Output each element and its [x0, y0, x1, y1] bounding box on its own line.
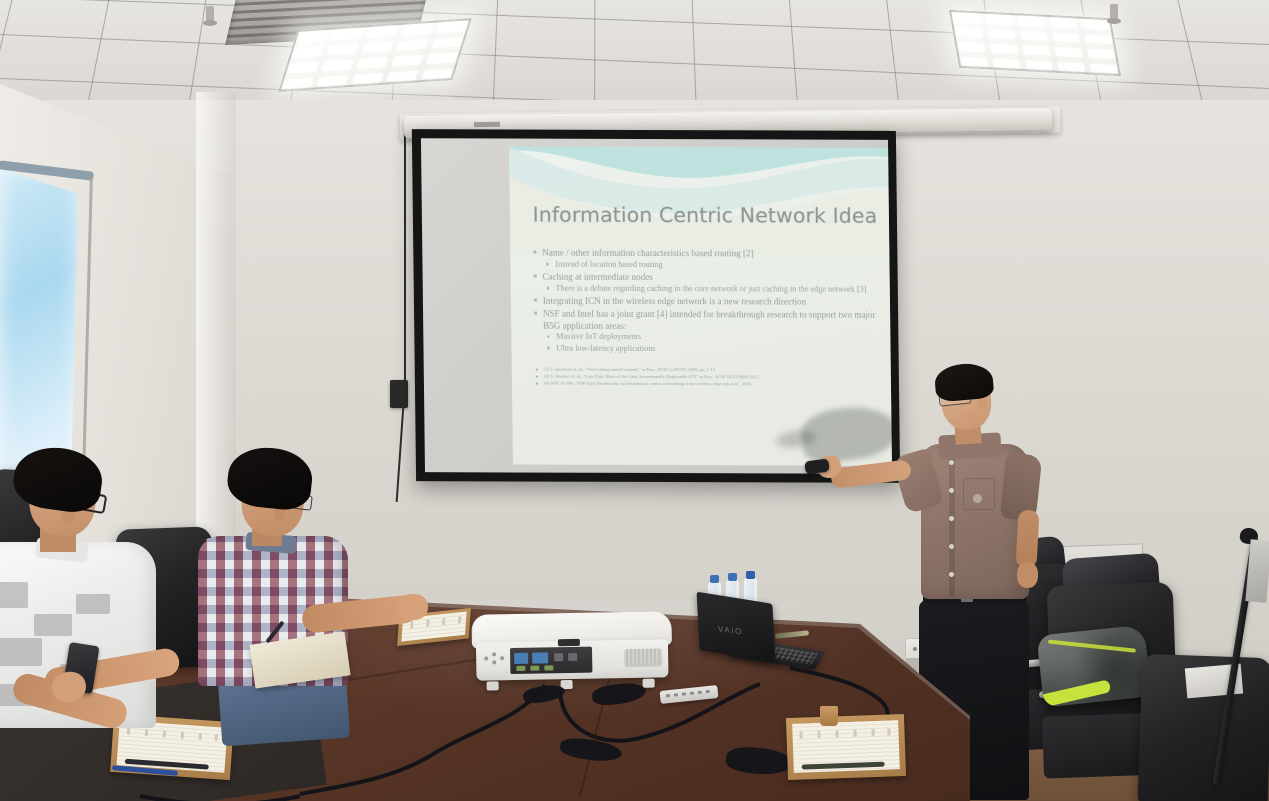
light-louver-cell	[422, 68, 454, 79]
light-louver-cell	[1082, 20, 1110, 30]
light-louver-cell	[282, 77, 314, 88]
meeting-room-photo: Information Centric Network Idea Name / …	[0, 0, 1269, 801]
light-louver-cell	[990, 44, 1018, 54]
notepad[interactable]	[786, 714, 906, 780]
light-louver-cell	[1022, 45, 1050, 55]
tripod-board	[1245, 539, 1269, 603]
slide-reference: [4] NSF 16-586, “NSF/Intel Partenership …	[533, 381, 880, 389]
light-louver-cell	[322, 59, 354, 70]
light-louver-cell	[1020, 31, 1048, 41]
projection-screen: Information Centric Network Idea Name / …	[412, 129, 900, 483]
light-louver-cell	[287, 62, 319, 73]
presenter-right-arm	[1015, 509, 1039, 568]
attendee-front-left	[0, 450, 238, 801]
shirt-button	[949, 460, 954, 465]
light-louver-cell	[1084, 34, 1112, 44]
ceiling-light-panel-2	[949, 10, 1121, 76]
sprinkler-icon	[206, 6, 214, 22]
screen-surface: Information Centric Network Idea Name / …	[421, 138, 892, 474]
light-louver-cell	[401, 24, 433, 35]
projector-controls[interactable]	[484, 652, 506, 668]
light-louver-cell	[357, 57, 389, 68]
light-louver-cell	[366, 26, 398, 37]
slide-title: Information Centric Network Idea	[532, 202, 877, 227]
light-louver-cell	[985, 15, 1013, 25]
attendee-hair	[225, 444, 315, 512]
attendee-hand	[398, 594, 428, 620]
wall-mounted-box	[390, 380, 408, 408]
light-louver-cell	[960, 56, 988, 66]
light-louver-cell	[955, 27, 983, 37]
housing-label	[474, 122, 500, 127]
light-louver-cell	[993, 58, 1021, 68]
light-louver-cell	[292, 46, 324, 57]
presenter-hair	[934, 362, 995, 403]
slide-bullet: Instead of location based routing	[531, 259, 878, 271]
shirt-button	[949, 488, 954, 493]
slide-bullet: Massive IoT deployments	[532, 332, 879, 344]
wall-cable	[404, 128, 406, 386]
sprinkler-icon	[1110, 4, 1118, 20]
bottle-cap	[728, 573, 737, 581]
pocket-button	[973, 494, 982, 503]
presenter-right-hand	[1017, 562, 1038, 588]
slide-bullet-list: Name / other information characteristics…	[531, 247, 879, 356]
slide-references: [2] V. Jacobson et. al., “Networking nam…	[533, 366, 880, 389]
light-louver-cell	[387, 70, 419, 81]
light-louver-cell	[1057, 61, 1085, 71]
light-louver-cell	[436, 21, 468, 32]
shirt-button	[949, 572, 954, 577]
projector[interactable]	[469, 611, 674, 685]
light-louver-cell	[362, 42, 394, 53]
bottle-cap	[710, 575, 719, 583]
light-louver-cell	[1090, 63, 1118, 73]
light-louver-cell	[987, 29, 1015, 39]
light-louver-cell	[392, 55, 424, 66]
light-louver-cell	[327, 44, 359, 55]
attendee-hair	[10, 442, 106, 516]
slide-bullet: There is a debate regarding caching in t…	[532, 283, 879, 295]
light-louver-cell	[426, 52, 458, 63]
light-louver-cell	[396, 39, 428, 50]
paper-cup[interactable]	[820, 706, 838, 726]
light-louver-cell	[1017, 16, 1045, 26]
slide-bullet: Ultra low-latency applications	[532, 343, 879, 355]
projector-ports	[510, 647, 592, 674]
slide-bullet: Name / other information characteristics…	[531, 247, 878, 260]
slide-bullet: NSF and Intel has a joint grant [4] inte…	[532, 307, 879, 332]
light-louver-cell	[352, 72, 384, 83]
light-louver-cell	[332, 28, 364, 39]
light-louver-cell	[1055, 47, 1083, 57]
light-louver-cell	[431, 37, 463, 48]
slide-bullet: Caching at intermediate nodes	[531, 271, 878, 284]
light-louver-cell	[1052, 33, 1080, 43]
light-louver-cell	[297, 31, 329, 42]
slide-bullet: Integrating ICN in the wireless edge net…	[532, 295, 879, 308]
bottle-cap	[746, 571, 755, 579]
light-louver-cell	[1087, 49, 1115, 59]
light-louver-cell	[317, 75, 349, 86]
light-louver-cell	[1050, 18, 1078, 28]
shirt-button	[949, 516, 954, 521]
projector-foot	[487, 681, 499, 690]
projector-foot	[643, 679, 655, 688]
light-louver-cell	[958, 42, 986, 52]
projector-lens	[558, 639, 580, 646]
shirt-button	[949, 544, 954, 549]
light-louver-cell	[1025, 60, 1053, 70]
light-louver-cell	[953, 13, 981, 23]
projector-vent	[624, 648, 662, 667]
